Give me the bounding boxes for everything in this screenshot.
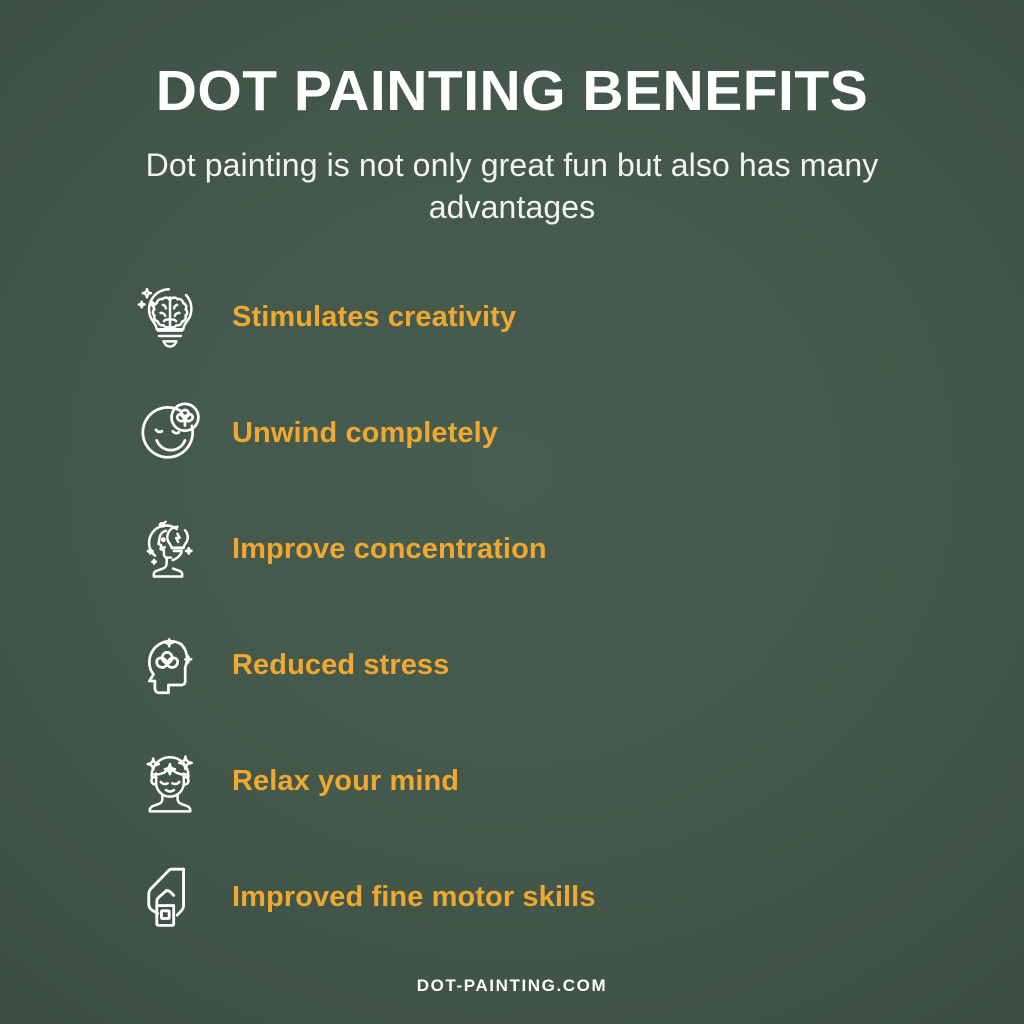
list-item: Stimulates creativity [128, 272, 948, 362]
benefit-label: Unwind completely [232, 416, 498, 450]
list-item: Improve concentration [128, 504, 948, 594]
header-block: DOT PAINTING BENEFITS Dot painting is no… [0, 60, 1024, 228]
list-item: Unwind completely [128, 388, 948, 478]
benefits-list: Stimulates creativity [128, 272, 948, 942]
benefit-label: Stimulates creativity [232, 300, 516, 334]
hand-pinch-grip-icon [128, 855, 212, 939]
website-label: DOT-PAINTING.COM [417, 976, 608, 995]
page-title: DOT PAINTING BENEFITS [0, 60, 1024, 122]
list-item: Reduced stress [128, 620, 948, 710]
benefit-label: Relax your mind [232, 764, 459, 798]
benefit-label: Improved fine motor skills [232, 880, 596, 914]
smiling-face-flower-icon [128, 391, 212, 475]
benefit-label: Improve concentration [232, 532, 547, 566]
page-subtitle: Dot painting is not only great fun but a… [142, 144, 882, 228]
benefit-label: Reduced stress [232, 648, 449, 682]
footer-block: DOT-PAINTING.COM [0, 976, 1024, 996]
head-profile-lightbulb-icon [128, 507, 212, 591]
list-item: Improved fine motor skills [128, 852, 948, 942]
infographic-poster: DOT PAINTING BENEFITS Dot painting is no… [0, 0, 1024, 1024]
head-lotus-icon [128, 623, 212, 707]
relaxed-face-sparkles-icon [128, 739, 212, 823]
list-item: Relax your mind [128, 736, 948, 826]
brain-lightbulb-icon [128, 275, 212, 359]
